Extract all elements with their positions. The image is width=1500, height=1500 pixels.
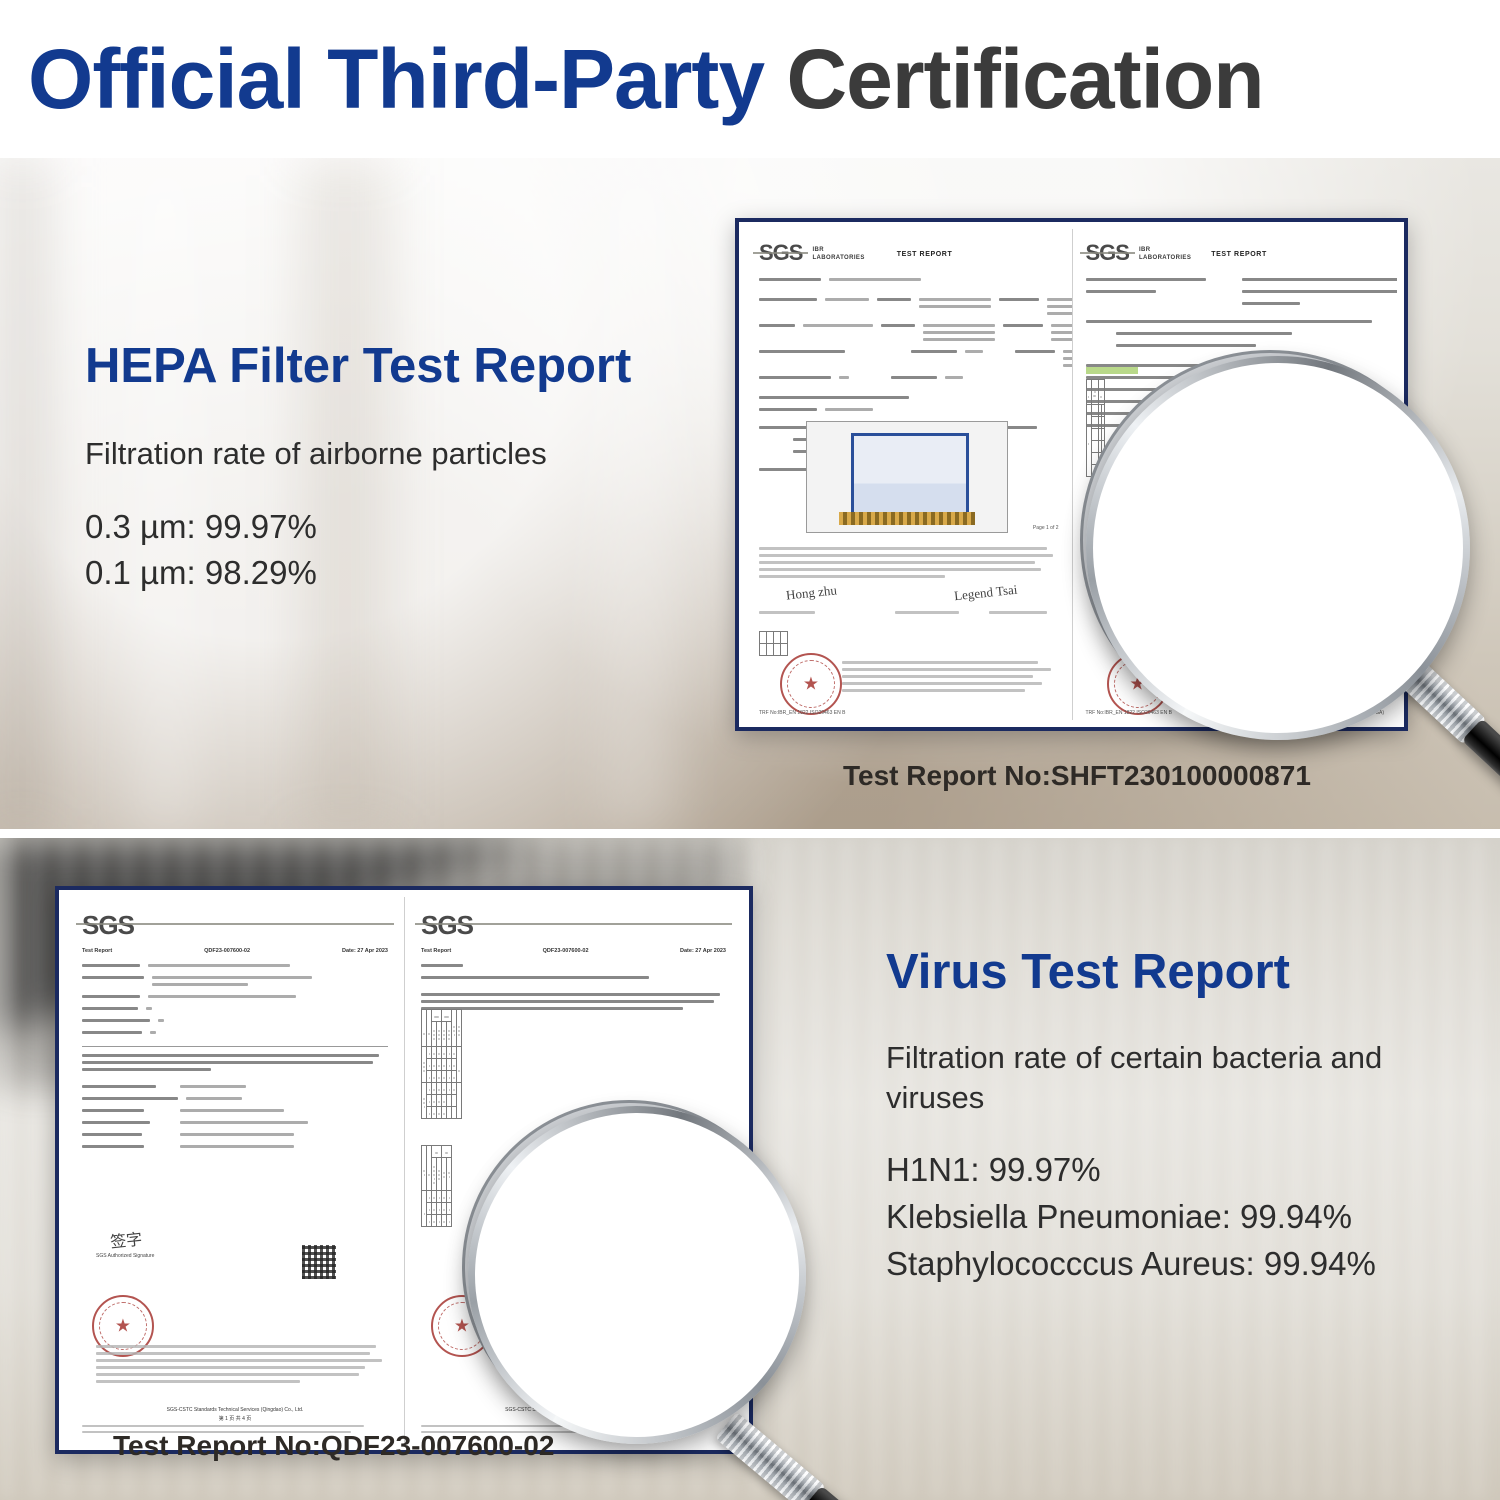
mag-v-times-1: 49 — [498, 1228, 519, 1250]
authorized-signature: 签字 — [109, 1225, 143, 1252]
page-title-blue: Official Third-Party — [28, 32, 764, 126]
mag-v-rate-0: 99.97 — [582, 1126, 630, 1148]
virus-text-block: Virus Test Report Filtration rate of cer… — [886, 946, 1466, 1288]
virus-results-header — [421, 964, 726, 1010]
mag-v-after-0: <2.4×10² — [560, 1402, 612, 1417]
virus-doc-date-1: Date: 27 Apr 2023 — [342, 948, 388, 954]
lab-name-line1: IBR — [812, 247, 864, 255]
mag-row-2-label: Efficiency E (%) — [1092, 510, 1257, 541]
virus-doc-header-row-1: Test Report QDF23-007600-02 Date: 27 Apr… — [82, 948, 388, 954]
hepa-stat-0: 0.3 µm: 99.97% — [85, 504, 725, 551]
sample-photo-filter — [851, 433, 969, 518]
mag-v-rate-3: 99.91 — [582, 1228, 630, 1250]
mag-row-0-value: 1… — [1370, 382, 1412, 413]
lab-name-line2: LABORATORIES — [812, 255, 864, 263]
virus-stat-0: H1N1: 99.97% — [886, 1147, 1466, 1194]
hepa-heading: HEPA Filter Test Report — [85, 340, 725, 394]
hepa-panel: HEPA Filter Test Report Filtration rate … — [0, 158, 1500, 833]
virus-doc-fields-1 — [82, 964, 388, 1038]
page-title-dark: Certification — [786, 32, 1263, 126]
hepa-footer-left-1: TRF No:IBR_EN 1822 ISO29463 EN B — [759, 710, 845, 716]
hepa-disclaimer-1 — [759, 547, 1059, 582]
virus-panel: Virus Test Report Filtration rate of cer… — [0, 838, 1500, 1500]
mag-v-avg-1: 99.94 — [682, 1228, 730, 1250]
virus-subheading: Filtration rate of certain bacteria and … — [886, 1038, 1446, 1117]
page-title: Official Third-Party Certification — [0, 37, 1264, 121]
mag-v-col-before: Air virus infection titer before start (… — [474, 1336, 538, 1377]
mag-v-rate-2: 99.96 — [582, 1194, 630, 1216]
lab-name-2-line2: LABORATORIES — [1139, 255, 1191, 263]
virus-doc-fields-2 — [82, 1085, 388, 1152]
virus-heading: Virus Test Report — [886, 946, 1466, 1000]
virus-doc-type-2: Test Report — [421, 948, 451, 954]
certification-stamp-1 — [780, 653, 842, 715]
panel-divider — [0, 829, 1500, 838]
mag-v-rate-lo-0: >99.96 — [674, 1402, 714, 1417]
signature-label: SGS Authorized Signature — [96, 1253, 154, 1259]
page-title-bar: Official Third-Party Certification — [0, 0, 1500, 158]
signature-prepared: Hong zhu — [785, 582, 837, 603]
magnified-virus-table: 99.97 99.94 99.94 25 99.96 49 99.91 99.9… — [474, 1112, 784, 1422]
doc-type-label-2: TEST REPORT — [1211, 251, 1267, 258]
virus-footer-company: SGS-CSTC Standards Technical Services (Q… — [82, 1407, 388, 1413]
magnifier-grip — [1462, 718, 1500, 833]
hepa-magnifier[interactable]: Downstream 1… Penetration (%) 1.705 Effi… — [1086, 358, 1500, 828]
signature-approved: Legend Tsai — [953, 582, 1018, 605]
virus-doc-type-1: Test Report — [82, 948, 112, 954]
virus-stat-1: Klebsiella Pneumoniae: 99.94% — [886, 1194, 1466, 1241]
mag-v-times-2: 18 — [498, 1262, 519, 1284]
magnifier-grip-2 — [802, 1486, 990, 1500]
qr-code — [302, 1245, 336, 1279]
mag-v-avg-0: 99.94 — [682, 1126, 730, 1148]
magnified-hepa-table: Downstream 1… Penetration (%) 1.705 Effi… — [1092, 362, 1448, 718]
mag-row-0-label: Downstream — [1092, 382, 1238, 413]
magnifier-ferrule-2 — [715, 1412, 826, 1500]
hepa-subheading: Filtration rate of airborne particles — [85, 434, 725, 474]
virus-results-table — [421, 1145, 452, 1227]
mag-row-2-value: 98.291 — [1352, 510, 1435, 541]
hepa-text-block: HEPA Filter Test Report Filtration rate … — [85, 340, 725, 597]
sgs-logo-2: SGS — [1086, 243, 1129, 264]
virus-doc-no-2: QDF23-007600-02 — [543, 948, 589, 954]
virus-stat-2: Staphylococccus Aureus: 99.94% — [886, 1241, 1466, 1288]
revision-table — [759, 631, 788, 656]
mag-row-3-subscript: 95% — [1209, 589, 1243, 608]
virus-doc-header-row-2: Test Report QDF23-007600-02 Date: 27 Apr… — [421, 948, 726, 954]
virus-magnifier[interactable]: 99.97 99.94 99.94 25 99.96 49 99.91 99.9… — [468, 1108, 968, 1500]
lab-name-2-line1: IBR — [1139, 247, 1191, 255]
mag-v-rate-1: 99.94 — [582, 1160, 630, 1182]
mag-row-3-label: Efficiency E95% (%) — [1092, 574, 1293, 609]
sgs-logo-3: SGS — [82, 913, 388, 938]
hepa-page-number: Page 1 of 2 — [1033, 525, 1059, 531]
hepa-stat-1: 0.1 µm: 98.29% — [85, 550, 725, 597]
sgs-header: SGS IBR LABORATORIES TEST REPORT — [759, 243, 1059, 264]
magnifier-lens-2: 99.97 99.94 99.94 25 99.96 49 99.91 99.9… — [474, 1112, 784, 1422]
hepa-sign-lines — [759, 611, 1059, 623]
mag-row-1-label: Penetration (%) — [1092, 446, 1256, 477]
mag-v-col-after: Air virus infection titer after action (… — [556, 1336, 656, 1377]
sample-photo-base — [839, 512, 975, 525]
mag-row-3-value: 98.203 — [1352, 574, 1435, 605]
hepa-stamp-text-1 — [842, 661, 1060, 696]
mag-v-rate-4: 99.95 — [582, 1262, 630, 1284]
virus-disclaimer-1 — [82, 1046, 388, 1071]
infographic-page: Official Third-Party Certification HEPA … — [0, 0, 1500, 1500]
mag-v-col-rate: Antibacterial rate (%) — [672, 1340, 762, 1368]
virus-doc-no-1: QDF23-007600-02 — [204, 948, 250, 954]
virus-footer-text-1 — [96, 1345, 388, 1387]
sgs-logo-4: SGS — [421, 913, 726, 938]
mag-row-1-value: 1.705 — [1362, 446, 1430, 477]
hepa-certificate-page-1: SGS IBR LABORATORIES TEST REPORT — [746, 229, 1072, 720]
bacteria-results-table — [421, 1009, 462, 1119]
magnifier-handle-2 — [715, 1412, 990, 1500]
virus-certificate-page-1: SGS Test Report QDF23-007600-02 Date: 27… — [66, 897, 404, 1443]
doc-type-label: TEST REPORT — [897, 251, 953, 258]
magnifier-lens: Downstream 1… Penetration (%) 1.705 Effi… — [1092, 362, 1448, 718]
sgs-header-2: SGS IBR LABORATORIES TEST REPORT — [1086, 243, 1385, 264]
sample-photo — [806, 421, 1008, 533]
virus-footer-page: 第 1 页 共 4 页 — [82, 1415, 388, 1422]
sgs-logo: SGS — [759, 243, 802, 264]
mag-v-times-0: 25 — [498, 1194, 519, 1216]
mag-v-section-label: Test samples — [474, 1302, 561, 1320]
virus-doc-date-2: Date: 27 Apr 2023 — [680, 948, 726, 954]
